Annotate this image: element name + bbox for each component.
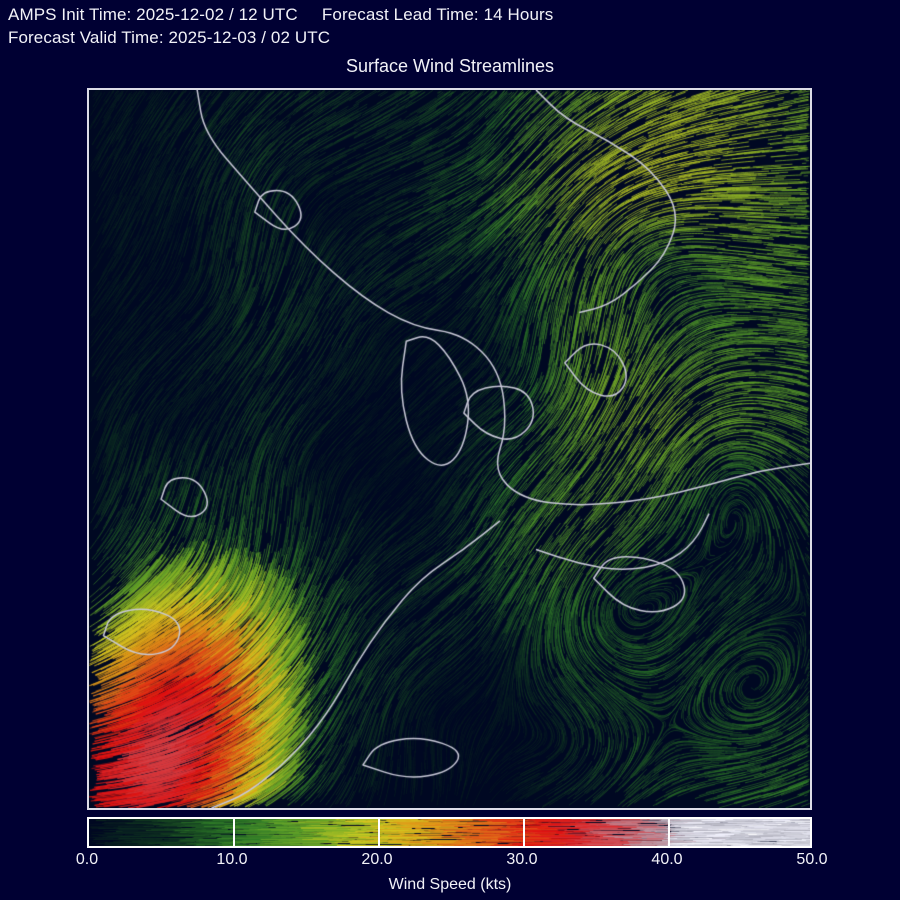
streamline-map-plot [87, 88, 812, 810]
colorbar-tick-10-0: 10.0 [216, 851, 247, 869]
colorbar-divider [233, 819, 235, 846]
colorbar-tick-40-0: 40.0 [651, 851, 682, 869]
colorbar-tick-50-0: 50.0 [796, 851, 827, 869]
colorbar-tick-30-0: 30.0 [506, 851, 537, 869]
colorbar-box [87, 817, 812, 848]
colorbar-divider [378, 819, 380, 846]
forecast-valid-time-text: Forecast Valid Time: 2025-12-03 / 02 UTC [8, 28, 330, 47]
colorbar-axis-label: Wind Speed (kts) [0, 876, 900, 894]
wind-speed-colorbar [87, 817, 812, 848]
colorbar-divider [668, 819, 670, 846]
colorbar-tick-20-0: 20.0 [361, 851, 392, 869]
page-title: Surface Wind Streamlines [0, 56, 900, 77]
colorbar-canvas [89, 819, 810, 846]
streamline-map-canvas [89, 90, 810, 808]
wind-streamline-figure: AMPS Init Time: 2025-12-02 / 12 UTC Fore… [0, 0, 900, 900]
colorbar-divider [523, 819, 525, 846]
amps-init-and-lead-time-text: AMPS Init Time: 2025-12-02 / 12 UTC Fore… [8, 5, 553, 24]
colorbar-tick-0-0: 0.0 [76, 851, 98, 869]
